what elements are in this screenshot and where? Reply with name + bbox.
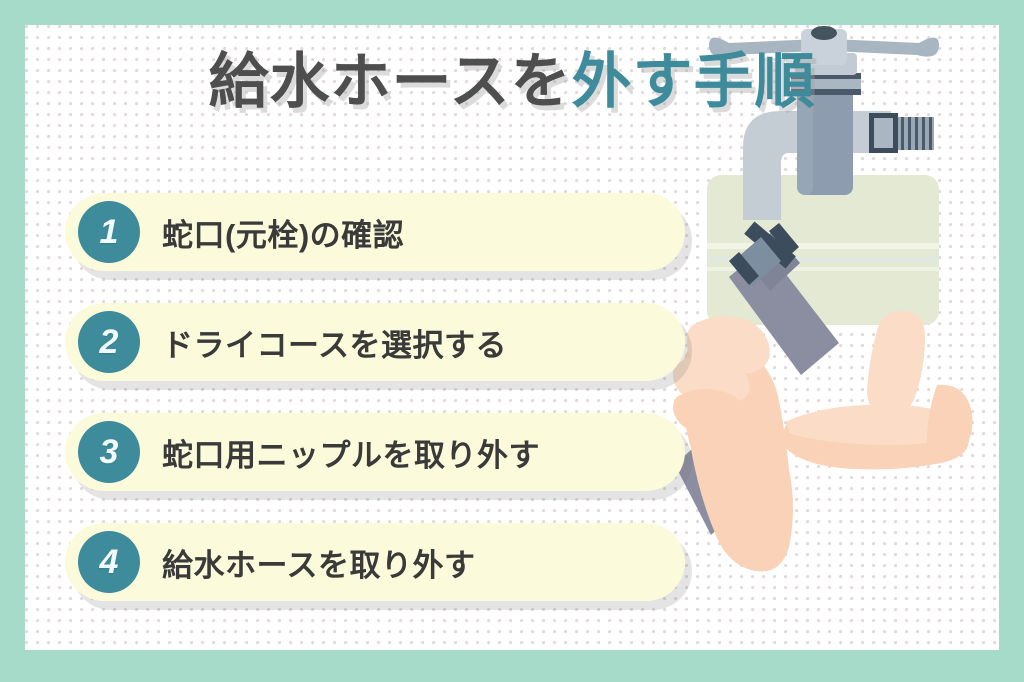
step-item-1[interactable]: 1 蛇口(元栓)の確認: [65, 193, 685, 271]
step-number-badge-1: 1: [78, 201, 140, 263]
step-list: 1 蛇口(元栓)の確認 2 ドライコースを選択する 3 蛇口用ニップルを取り外す…: [65, 193, 685, 633]
faucet-threaded-nipple: [869, 113, 934, 153]
title-part-teal: 外す手順: [572, 48, 816, 115]
step-label-4: 給水ホースを取り外す: [162, 540, 475, 585]
step-number-badge-4: 4: [78, 531, 140, 593]
step-item-4[interactable]: 4 給水ホースを取り外す: [65, 523, 685, 601]
step-number-badge-2: 2: [78, 311, 140, 373]
faucet-and-hands-illustration: [669, 25, 999, 650]
step-item-3[interactable]: 3 蛇口用ニップルを取り外す: [65, 413, 685, 491]
step-label-2: ドライコースを選択する: [162, 320, 507, 365]
hand-holding-hose: [673, 316, 793, 571]
washing-machine-body: [707, 175, 939, 325]
step-item-2[interactable]: 2 ドライコースを選択する: [65, 303, 685, 381]
step-label-1: 蛇口(元栓)の確認: [162, 210, 404, 255]
poster-root: 給水ホースを外す手順 1 蛇口(元栓)の確認 2 ドライコースを選択する 3 蛇…: [0, 0, 1024, 682]
step-number-badge-3: 3: [78, 421, 140, 483]
page-title: 給水ホースを外す手順: [25, 50, 999, 113]
title-part-dark: 給水ホースを: [209, 48, 572, 115]
step-label-3: 蛇口用ニップルを取り外す: [162, 430, 540, 475]
poster-canvas: 給水ホースを外す手順 1 蛇口(元栓)の確認 2 ドライコースを選択する 3 蛇…: [25, 25, 999, 650]
